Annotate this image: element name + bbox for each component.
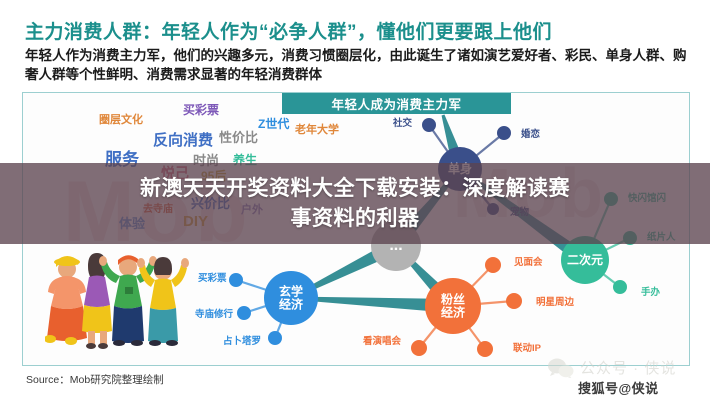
satellite-label: 手办 bbox=[641, 286, 661, 298]
cluster-hub-label: 玄学 bbox=[279, 284, 303, 299]
overlay-title-line-2: 事资料的利器 bbox=[291, 204, 420, 234]
satellite-node[interactable] bbox=[497, 126, 511, 140]
wechat-watermark: 公众号 · 侠说 bbox=[548, 357, 676, 378]
satellite-node[interactable] bbox=[506, 293, 522, 309]
slide-page: 主力消费人群：年轻人作为“必争人群”，懂他们更要跟上他们 年轻人作为消费主力军，… bbox=[0, 0, 710, 400]
satellite-label: 婚恋 bbox=[520, 128, 541, 140]
cluster-hub-label: 经济 bbox=[441, 305, 466, 320]
satellite-node[interactable] bbox=[268, 331, 282, 345]
satellite-label: 占卜塔罗 bbox=[223, 335, 261, 347]
satellite-label: 买彩票 bbox=[198, 272, 227, 284]
satellite-node[interactable] bbox=[422, 118, 436, 132]
satellite-label: 明星周边 bbox=[536, 296, 575, 308]
sohu-watermark: 搜狐号@侠说 bbox=[578, 378, 659, 397]
page-title: 主力消费人群：年轻人作为“必争人群”，懂他们更要跟上他们 bbox=[25, 17, 552, 44]
satellite-node[interactable] bbox=[237, 306, 251, 320]
satellite-label: 见面会 bbox=[514, 256, 543, 268]
wechat-icon bbox=[548, 358, 574, 378]
satellite-node[interactable] bbox=[477, 341, 493, 357]
page-subtitle: 年轻人作为消费主力军，他们的兴趣多元，消费习惯圈层化，由此诞生了诸如演艺爱好者、… bbox=[25, 46, 695, 84]
overlay-banner: 新澳天天开奖资料大全下载安装：深度解读赛 事资料的利器 bbox=[0, 163, 710, 244]
satellite-label: 看演唱会 bbox=[363, 335, 402, 347]
satellite-label: 联动IP bbox=[513, 342, 542, 354]
overlay-title-line-1: 新澳天天开奖资料大全下载安装：深度解读赛 bbox=[140, 174, 570, 204]
satellite-node[interactable] bbox=[229, 273, 243, 287]
satellite-node[interactable] bbox=[613, 280, 627, 294]
satellite-label: 社交 bbox=[392, 117, 413, 129]
satellite-label: 寺庙修行 bbox=[195, 308, 234, 320]
cluster-hub-label: 经济 bbox=[279, 297, 304, 312]
cluster-hub-label: 粉丝 bbox=[441, 292, 465, 307]
source-caption: Source：Mob研究院整理绘制 bbox=[26, 372, 164, 387]
satellite-node[interactable] bbox=[411, 340, 427, 356]
wechat-watermark-text: 公众号 · 侠说 bbox=[580, 357, 676, 378]
satellite-node[interactable] bbox=[485, 257, 501, 273]
cluster-hub-label: 二次元 bbox=[567, 252, 603, 267]
cluster-玄学经济: 玄学经济买彩票寺庙修行占卜塔罗 bbox=[195, 271, 318, 347]
